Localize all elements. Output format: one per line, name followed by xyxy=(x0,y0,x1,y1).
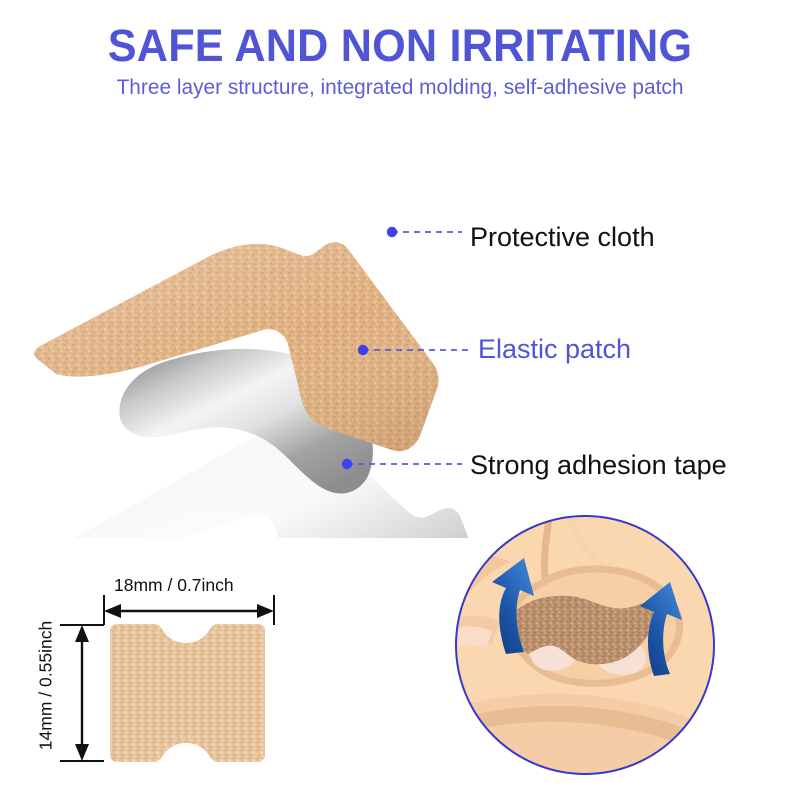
leader-dot-elastic-patch xyxy=(358,345,368,355)
leader-dot-strong-adhesion-tape xyxy=(342,459,352,469)
product-infographic: SAFE AND NON IRRITATING Three layer stru… xyxy=(0,0,800,800)
nose-scene xyxy=(448,508,728,788)
dimension-diagram: 18mm / 0.7inch 14mm / 0.55inch xyxy=(8,565,293,790)
page-title: SAFE AND NON IRRITATING xyxy=(16,22,784,69)
height-arrow xyxy=(75,625,89,761)
width-dimension-label: 18mm / 0.7inch xyxy=(114,575,234,596)
header: SAFE AND NON IRRITATING Three layer stru… xyxy=(0,22,800,100)
page-subtitle: Three layer structure, integrated moldin… xyxy=(12,75,788,100)
nose-application-illustration xyxy=(448,508,728,788)
callout-label-protective-cloth: Protective cloth xyxy=(470,224,655,251)
height-dimension-label: 14mm / 0.55inch xyxy=(36,616,57,756)
width-arrow xyxy=(104,604,274,618)
patch-swatch xyxy=(110,624,265,762)
callout-label-elastic-patch: Elastic patch xyxy=(478,336,631,363)
callout-label-strong-adhesion-tape: Strong adhesion tape xyxy=(470,452,727,479)
leader-dot-protective-cloth xyxy=(387,227,397,237)
